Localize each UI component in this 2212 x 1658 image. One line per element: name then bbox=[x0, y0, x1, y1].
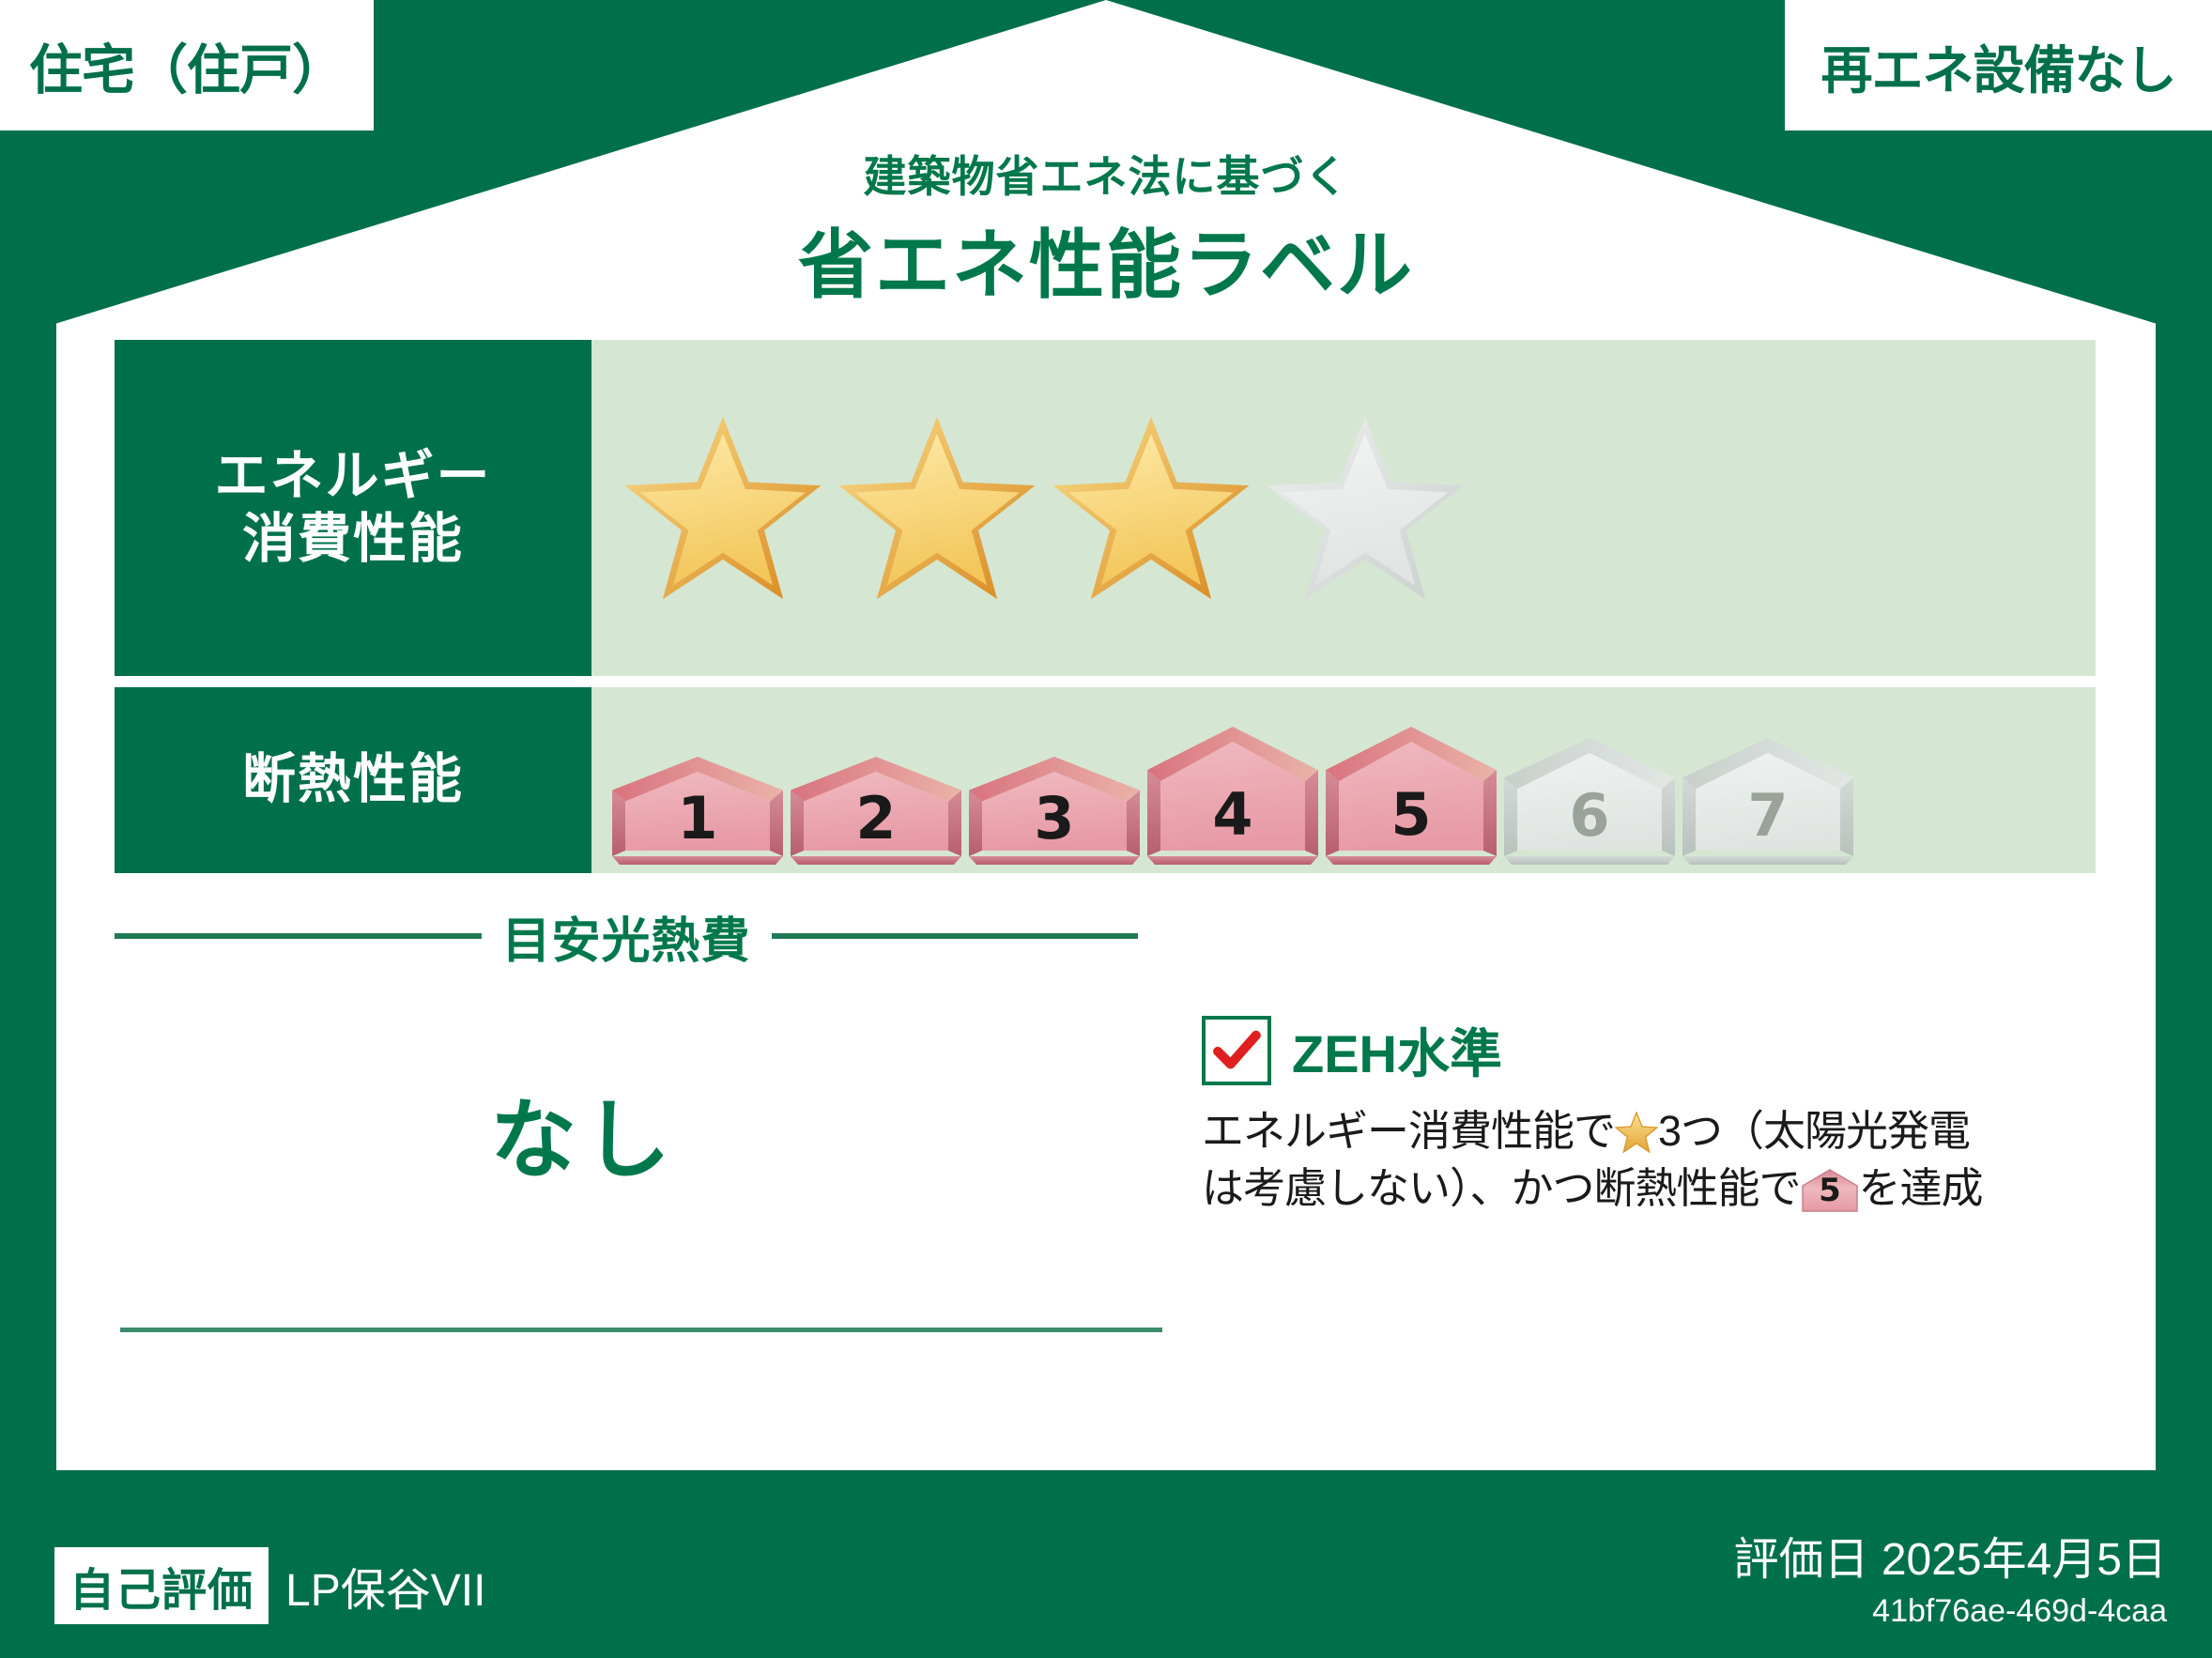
check-icon bbox=[1209, 1023, 1264, 1078]
zeh-checkbox[interactable] bbox=[1202, 1016, 1271, 1085]
badge-renewable-energy: 再エネ設備なし bbox=[1785, 0, 2212, 130]
insulation-level-6: 6 bbox=[1502, 734, 1677, 866]
energy-performance-row: エネルギー 消費性能 bbox=[115, 340, 2096, 676]
estimated-utility-cost-heading: 目安光熱費 bbox=[115, 901, 1138, 971]
insulation-level-7: 7 bbox=[1681, 734, 1855, 866]
house-icon bbox=[1681, 734, 1855, 866]
zeh-desc-line1-a: エネルギー消費性能で bbox=[1202, 1107, 1615, 1155]
house-icon bbox=[610, 753, 785, 866]
house-icon bbox=[1502, 734, 1677, 866]
self-evaluation-badge: 自己評価 bbox=[54, 1547, 269, 1624]
zeh-desc-line2-a: は考慮しない）、かつ断熱性能で bbox=[1202, 1164, 1801, 1212]
energy-label-root: 住宅（住戸） 再エネ設備なし 建築物省エネ法に基づく 省エネ性能ラベル エネルギ… bbox=[0, 0, 2212, 1658]
zeh-header: ZEH水準 bbox=[1202, 1012, 2159, 1088]
star-icon-empty bbox=[1262, 409, 1468, 606]
heading-rule-left bbox=[115, 933, 482, 939]
insulation-level-icon-value: 5 bbox=[1801, 1170, 1859, 1213]
estimated-utility-cost-value: なし bbox=[115, 1070, 1053, 1195]
house-icon bbox=[1145, 723, 1320, 866]
star-rating bbox=[620, 409, 1468, 606]
insulation-performance-label: 断熱性能 bbox=[115, 687, 591, 873]
energy-performance-body bbox=[591, 340, 2096, 676]
insulation-level-3: 3 bbox=[967, 753, 1142, 866]
heading-rule-right bbox=[772, 933, 1139, 939]
zeh-standard-block: ZEH水準 エネルギー消費性能で 3つ（太陽光発電 bbox=[1202, 1012, 2159, 1218]
star-icon bbox=[1615, 1111, 1658, 1152]
energy-performance-label: エネルギー 消費性能 bbox=[115, 340, 591, 676]
star-icon-filled bbox=[620, 409, 826, 606]
badge-building-type: 住宅（住戸） bbox=[0, 0, 374, 130]
insulation-level-4: 4 bbox=[1145, 723, 1320, 866]
insulation-level-2: 2 bbox=[789, 753, 963, 866]
insulation-performance-row: 断熱性能 1234567 bbox=[115, 687, 2096, 873]
evaluation-id: 41bf76ae-469d-4caa bbox=[1733, 1593, 2167, 1630]
footer-right: 評価日 2025年4月5日 41bf76ae-469d-4caa bbox=[1733, 1522, 2167, 1630]
zeh-title: ZEH水準 bbox=[1292, 1012, 1502, 1088]
evaluation-date: 評価日 2025年4月5日 bbox=[1733, 1522, 2167, 1588]
star-icon-filled bbox=[1048, 409, 1254, 606]
estimated-utility-cost-label: 目安光熱費 bbox=[482, 901, 772, 972]
zeh-description: エネルギー消費性能で 3つ（太陽光発電 は考慮しない）、かつ断熱性能で bbox=[1202, 1103, 2159, 1218]
star-icon-filled bbox=[834, 409, 1040, 606]
house-icon bbox=[967, 753, 1142, 866]
header-subtitle: 建築物省エネ法に基づく bbox=[0, 143, 2212, 205]
cost-section-divider bbox=[120, 1328, 1162, 1332]
badge-renewable-energy-label: 再エネ設備なし bbox=[1820, 28, 2175, 103]
insulation-level-5: 5 bbox=[1324, 723, 1498, 866]
building-name: LP保谷VII bbox=[285, 1553, 485, 1619]
insulation-performance-body: 1234567 bbox=[591, 687, 2096, 873]
zeh-description-line2: は考慮しない）、かつ断熱性能で 5 を達成 bbox=[1202, 1160, 2159, 1218]
insulation-level-icon: 5 bbox=[1801, 1169, 1859, 1212]
insulation-label-text: 断熱性能 bbox=[242, 748, 464, 811]
page-title: 省エネ性能ラベル bbox=[0, 205, 2212, 314]
house-icon bbox=[789, 753, 963, 866]
zeh-desc-line2-b: を達成 bbox=[1859, 1164, 1983, 1212]
zeh-description-line1: エネルギー消費性能で 3つ（太陽光発電 bbox=[1202, 1103, 2159, 1160]
insulation-level-scale: 1234567 bbox=[610, 723, 1855, 873]
badge-building-type-label: 住宅（住戸） bbox=[29, 27, 345, 104]
energy-label-line2: 消費性能 bbox=[242, 508, 464, 571]
energy-label-line1: エネルギー bbox=[215, 445, 492, 508]
house-icon bbox=[1324, 723, 1498, 866]
footer-left: 自己評価 LP保谷VII bbox=[54, 1547, 485, 1624]
zeh-desc-line1-b: 3つ（太陽光発電 bbox=[1658, 1107, 1970, 1155]
insulation-level-1: 1 bbox=[610, 753, 785, 866]
